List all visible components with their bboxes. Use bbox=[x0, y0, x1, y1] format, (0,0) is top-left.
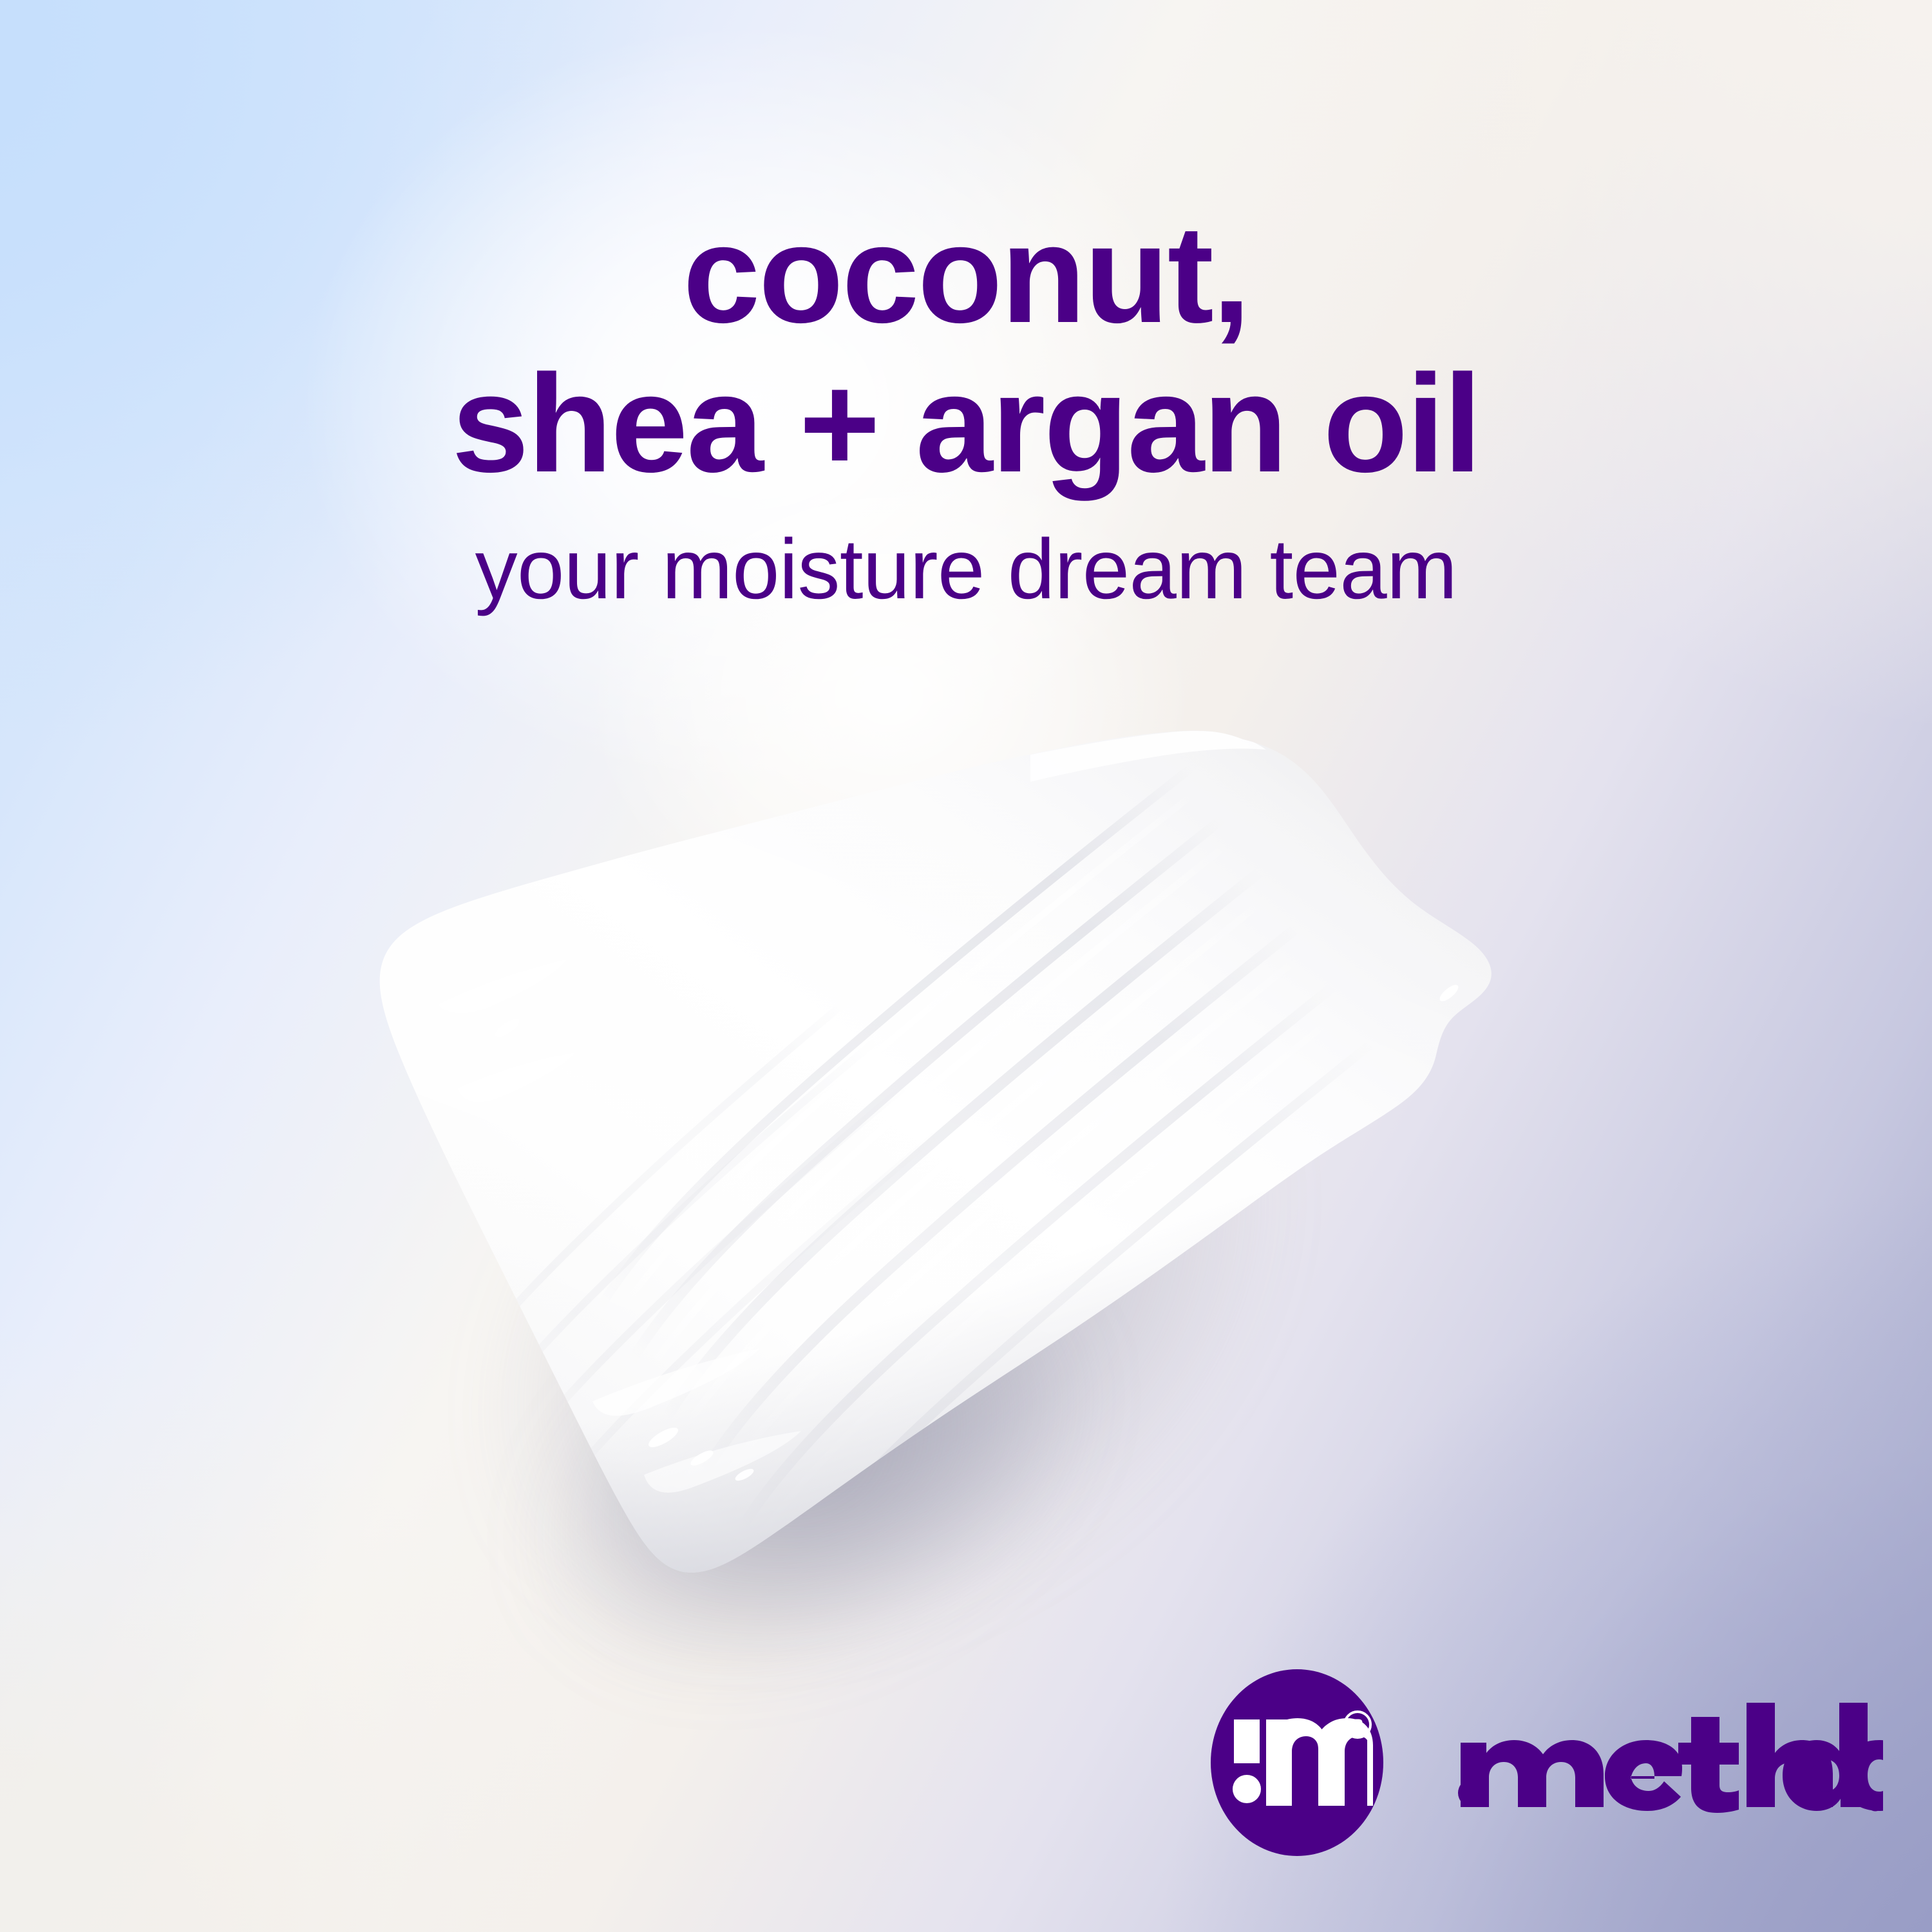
promo-canvas: coconut, shea + argan oil your moisture … bbox=[0, 0, 1932, 1932]
headline-line-1: coconut, bbox=[0, 206, 1932, 343]
svg-text:R: R bbox=[1352, 1716, 1363, 1734]
cream-swatch bbox=[361, 728, 1565, 1584]
headline-line-2: shea + argan oil bbox=[0, 355, 1932, 492]
svg-text:R: R bbox=[1872, 1799, 1879, 1809]
method-circle-logo-icon: R bbox=[1211, 1669, 1383, 1856]
method-wordmark: R bbox=[1458, 1696, 1883, 1829]
subheadline: your moisture dream team bbox=[0, 527, 1932, 612]
brand-lockup: R bbox=[1211, 1669, 1883, 1856]
